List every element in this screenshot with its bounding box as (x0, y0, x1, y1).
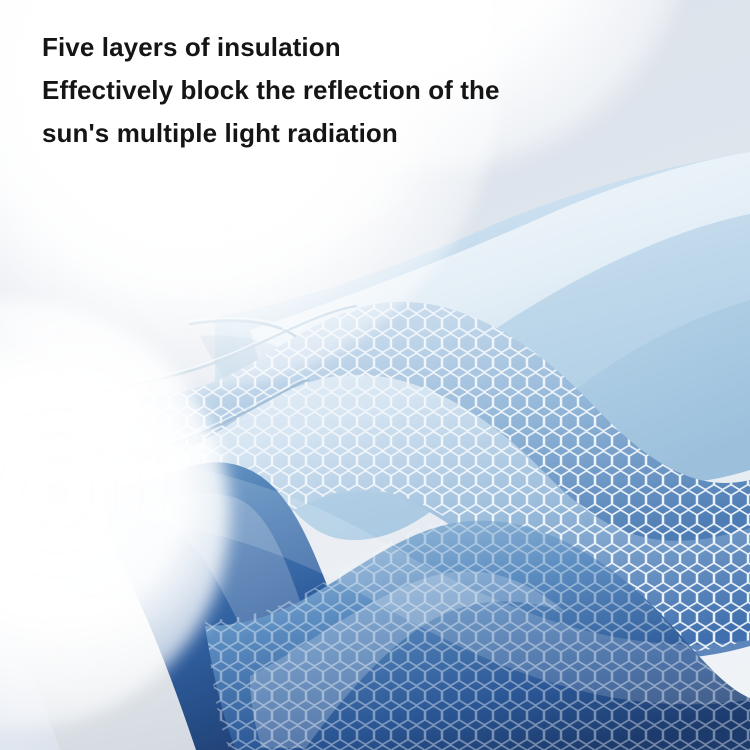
headline-text: Five layers of insulation Effectively bl… (42, 26, 642, 155)
product-illustration-canvas: Five layers of insulation Effectively bl… (0, 0, 750, 750)
